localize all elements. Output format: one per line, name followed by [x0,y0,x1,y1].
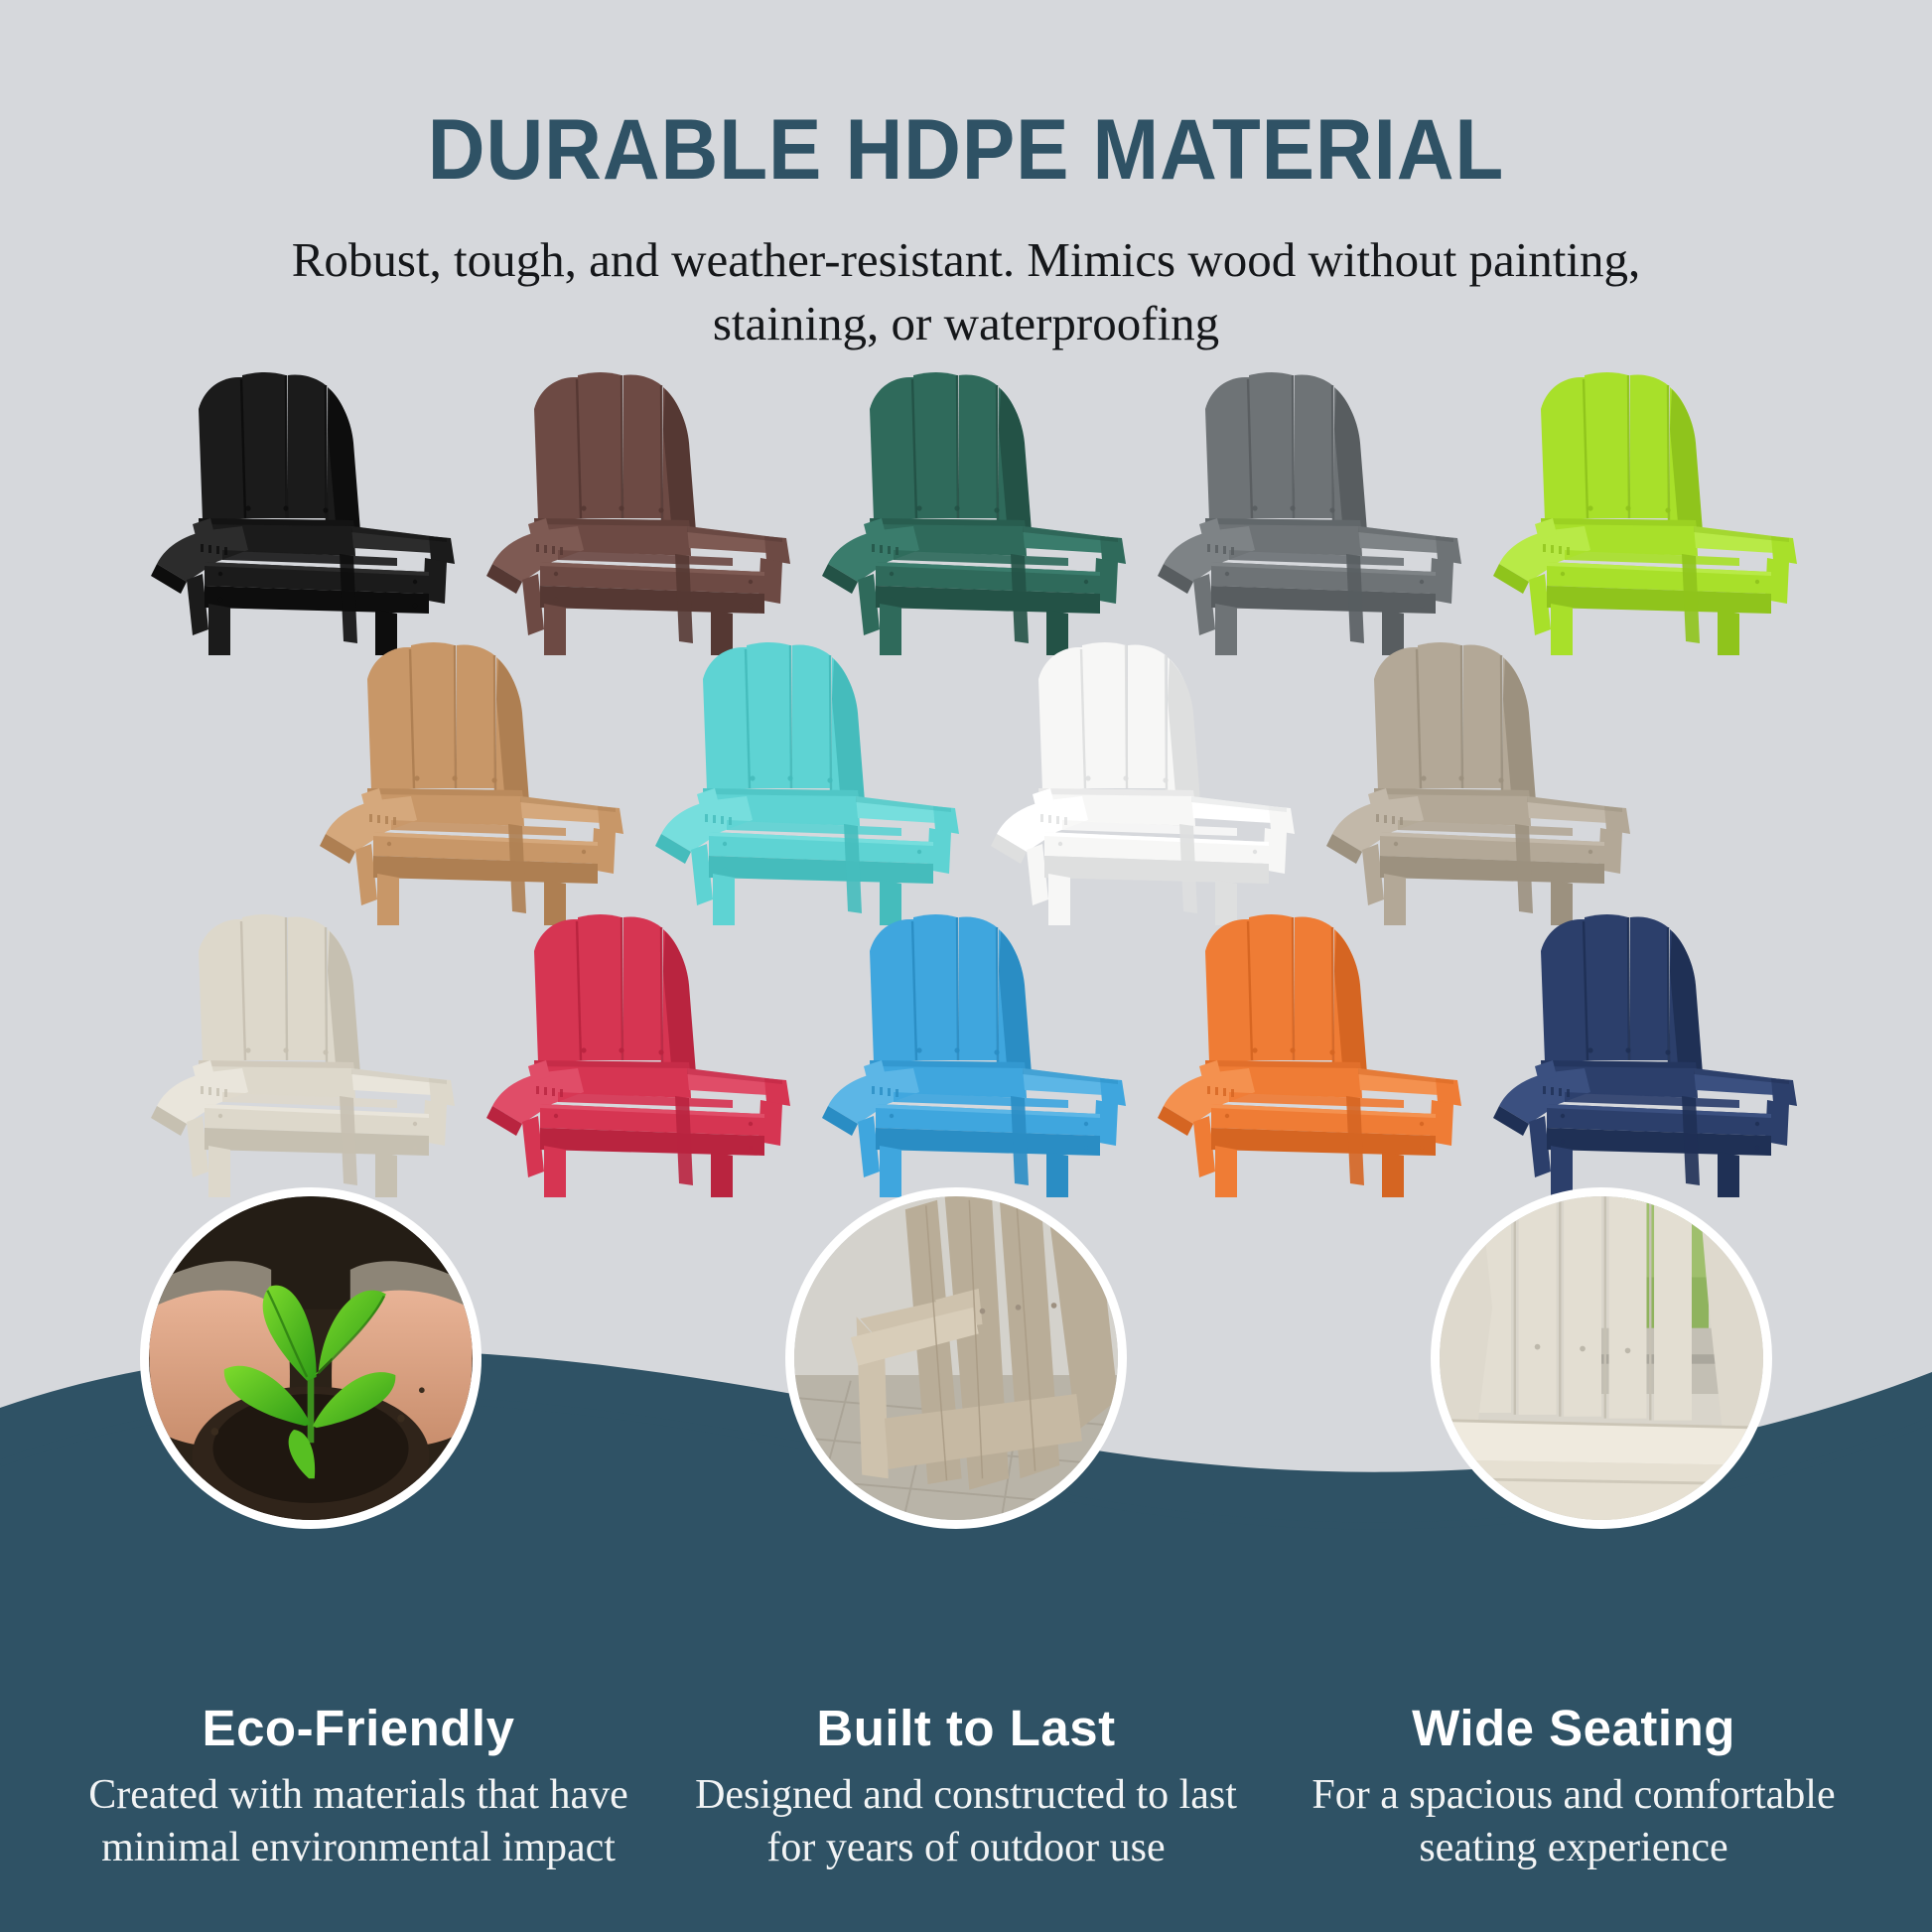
feature-heading: Wide Seating [1270,1699,1877,1757]
chair-grid-row-2 [0,639,1932,925]
cream-chair-wide-seat-closeup-photo [1431,1187,1772,1529]
chair-navy blue [1473,911,1801,1197]
page-subtitle: Robust, tough, and weather-resistant. Mi… [281,193,1651,354]
feature-heading: Built to Last [662,1699,1270,1757]
chair-turquoise [635,639,963,925]
feature-eco-friendly: Eco-Friendly Created with materials that… [55,1699,662,1932]
chair-gray [1138,369,1465,655]
chair-swatch-turquoise[interactable] [635,639,963,925]
feature-description: For a spacious and comfortable seating e… [1302,1769,1846,1874]
feature-description: Designed and constructed to last for yea… [694,1769,1238,1874]
chair-swatch-brown[interactable] [467,369,794,655]
hands-holding-seedling-photo [140,1187,482,1529]
chair-red [467,911,794,1197]
infographic-canvas: DURABLE HDPE MATERIAL Robust, tough, and… [0,0,1932,1932]
driftwood-chair-on-patio-photo [785,1187,1127,1529]
chair-color-grid [0,369,1932,1197]
chair-swatch-black[interactable] [131,369,459,655]
chair-lime green [1473,369,1801,655]
chair-teak [300,639,627,925]
patio-chair-photo-illustration [794,1196,1118,1520]
chair-black [131,369,459,655]
chair-orange [1138,911,1465,1197]
wide-seat-closeup-illustration [1440,1196,1763,1520]
chair-driftwood [1307,639,1634,925]
chair-swatch-red[interactable] [467,911,794,1197]
feature-built-to-last: Built to Last Designed and constructed t… [662,1699,1270,1932]
chair-swatch-lime-green[interactable] [1473,369,1801,655]
chair-swatch-white[interactable] [971,639,1299,925]
chair-sky blue [802,911,1130,1197]
seedling-illustration [149,1196,473,1520]
chair-swatch-navy-blue[interactable] [1473,911,1801,1197]
chair-dark green [802,369,1130,655]
chair-ivory [131,911,459,1197]
feature-wide-seating: Wide Seating For a spacious and comforta… [1270,1699,1877,1932]
chair-swatch-teak[interactable] [300,639,627,925]
header: DURABLE HDPE MATERIAL Robust, tough, and… [0,0,1932,354]
chair-swatch-sky-blue[interactable] [802,911,1130,1197]
chair-swatch-ivory[interactable] [131,911,459,1197]
page-title: DURABLE HDPE MATERIAL [68,0,1864,193]
feature-heading: Eco-Friendly [55,1699,662,1757]
chair-grid-row-1 [0,369,1932,655]
feature-description: Created with materials that have minimal… [86,1769,630,1874]
chair-grid-row-3 [0,911,1932,1197]
chair-swatch-orange[interactable] [1138,911,1465,1197]
chair-brown [467,369,794,655]
chair-white [971,639,1299,925]
chair-swatch-gray[interactable] [1138,369,1465,655]
chair-swatch-dark-green[interactable] [802,369,1130,655]
chair-swatch-driftwood[interactable] [1307,639,1634,925]
